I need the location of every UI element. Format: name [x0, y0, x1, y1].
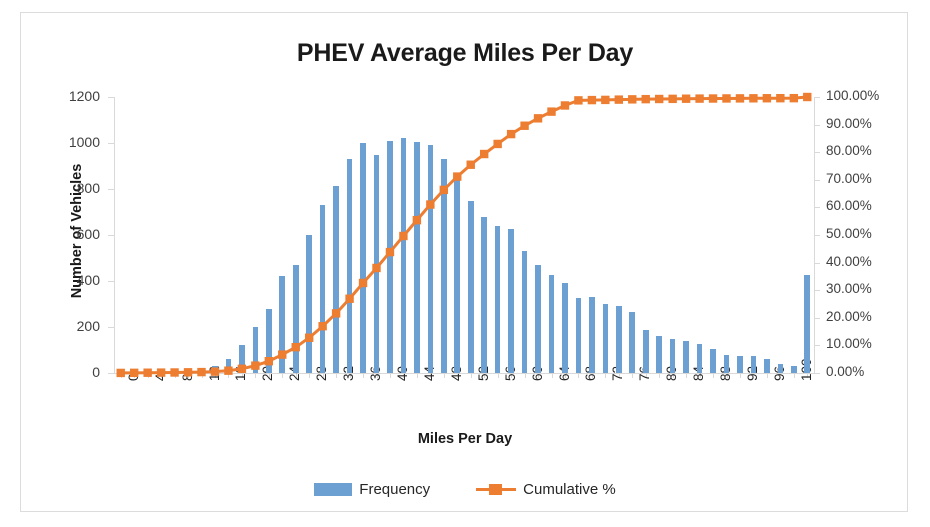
cumulative-marker: [695, 94, 703, 102]
secondary-y-axis-tick-label: 40.00%: [826, 254, 872, 269]
x-axis-tick: [498, 373, 499, 378]
cumulative-marker: [170, 368, 178, 376]
legend-label-cumulative: Cumulative %: [523, 481, 616, 498]
secondary-y-axis-tick: [814, 318, 820, 319]
x-axis-tick: [605, 373, 606, 378]
secondary-y-axis-tick: [814, 373, 820, 374]
secondary-y-axis-tick-label: 80.00%: [826, 143, 872, 158]
cumulative-marker: [413, 216, 421, 224]
cumulative-marker: [480, 150, 488, 158]
secondary-y-axis-tick-label: 50.00%: [826, 226, 872, 241]
cumulative-marker: [561, 101, 569, 109]
cumulative-marker: [790, 94, 798, 102]
cumulative-line: [121, 97, 808, 373]
y-axis-tick-label: 200: [44, 318, 100, 334]
secondary-y-axis-tick: [814, 345, 820, 346]
bar-swatch-icon: [314, 483, 352, 496]
cumulative-marker: [372, 264, 380, 272]
x-axis-tick: [255, 373, 256, 378]
x-axis-tick: [794, 373, 795, 378]
secondary-y-axis-tick-label: 60.00%: [826, 198, 872, 213]
cumulative-marker: [251, 361, 259, 369]
plot-area: 020040060080010001200 0.00%10.00%20.00%3…: [114, 97, 814, 373]
legend-label-frequency: Frequency: [359, 481, 430, 498]
cumulative-marker: [399, 232, 407, 240]
secondary-y-axis-tick-label: 100.00%: [826, 88, 879, 103]
x-axis-tick: [282, 373, 283, 378]
line-series-cumulative: [114, 97, 814, 373]
x-axis-tick: [363, 373, 364, 378]
secondary-y-axis-tick: [814, 125, 820, 126]
cumulative-marker: [467, 161, 475, 169]
cumulative-marker: [318, 322, 326, 330]
secondary-y-axis-tick-label: 30.00%: [826, 281, 872, 296]
cumulative-marker: [709, 94, 717, 102]
cumulative-marker: [157, 368, 165, 376]
secondary-y-axis-tick: [814, 180, 820, 181]
secondary-y-axis-tick: [814, 290, 820, 291]
secondary-y-axis-tick: [814, 207, 820, 208]
x-axis-tick: [444, 373, 445, 378]
cumulative-marker: [197, 368, 205, 376]
cumulative-marker: [386, 248, 394, 256]
y-axis-tick-label: 0: [44, 364, 100, 380]
cumulative-marker: [601, 96, 609, 104]
x-axis-tick: [309, 373, 310, 378]
cumulative-marker: [628, 95, 636, 103]
y-axis-tick-label: 800: [44, 180, 100, 196]
cumulative-marker: [117, 369, 125, 377]
y-axis-tick: [108, 373, 114, 374]
chart-legend: Frequency Cumulative %: [21, 481, 909, 498]
cumulative-marker: [722, 94, 730, 102]
x-axis-tick: [632, 373, 633, 378]
secondary-y-axis-tick: [814, 152, 820, 153]
cumulative-marker: [292, 343, 300, 351]
x-axis-tick: [471, 373, 472, 378]
x-axis-tick: [578, 373, 579, 378]
x-axis-tick: [686, 373, 687, 378]
secondary-y-axis-tick-label: 70.00%: [826, 171, 872, 186]
cumulative-marker: [359, 279, 367, 287]
cumulative-marker: [803, 93, 811, 101]
cumulative-marker: [574, 96, 582, 104]
cumulative-marker: [278, 350, 286, 358]
x-axis-tick: [525, 373, 526, 378]
cumulative-marker: [588, 96, 596, 104]
y-axis-tick-label: 600: [44, 226, 100, 242]
cumulative-marker: [130, 369, 138, 377]
secondary-y-axis-tick-label: 90.00%: [826, 116, 872, 131]
line-marker-swatch-icon: [476, 483, 516, 496]
cumulative-marker: [507, 130, 515, 138]
cumulative-marker: [655, 95, 663, 103]
cumulative-marker: [493, 140, 501, 148]
secondary-y-axis-tick: [814, 235, 820, 236]
cumulative-marker: [211, 367, 219, 375]
x-axis-tick: [390, 373, 391, 378]
x-axis-tick: [659, 373, 660, 378]
cumulative-marker: [332, 309, 340, 317]
y-axis-tick-label: 1000: [44, 134, 100, 150]
x-axis-tick: [417, 373, 418, 378]
secondary-y-axis-tick-label: 10.00%: [826, 336, 872, 351]
cumulative-marker: [184, 368, 192, 376]
x-axis-tick: [552, 373, 553, 378]
cumulative-marker: [776, 94, 784, 102]
cumulative-marker: [305, 334, 313, 342]
cumulative-marker: [453, 172, 461, 180]
cumulative-marker: [763, 94, 771, 102]
cumulative-marker: [224, 366, 232, 374]
x-axis-tick: [767, 373, 768, 378]
cumulative-marker: [642, 95, 650, 103]
cumulative-marker: [682, 95, 690, 103]
cumulative-marker: [749, 94, 757, 102]
cumulative-marker: [615, 95, 623, 103]
cumulative-marker: [238, 365, 246, 373]
cumulative-marker: [668, 95, 676, 103]
cumulative-marker: [440, 186, 448, 194]
cumulative-marker: [736, 94, 744, 102]
chart-container: PHEV Average Miles Per Day Number of Veh…: [20, 12, 908, 512]
secondary-y-axis-tick: [814, 263, 820, 264]
x-axis-tick: [336, 373, 337, 378]
cumulative-marker: [520, 122, 528, 130]
secondary-y-axis-tick: [814, 97, 820, 98]
x-axis-title: Miles Per Day: [21, 431, 909, 447]
cumulative-marker: [345, 295, 353, 303]
legend-item-frequency[interactable]: Frequency: [314, 481, 430, 498]
cumulative-marker: [534, 114, 542, 122]
y-axis-tick-label: 1200: [44, 88, 100, 104]
chart-title: PHEV Average Miles Per Day: [21, 39, 909, 68]
x-axis-tick: [740, 373, 741, 378]
legend-item-cumulative[interactable]: Cumulative %: [476, 481, 616, 498]
y-axis-tick-label: 400: [44, 272, 100, 288]
secondary-y-axis-tick-label: 20.00%: [826, 309, 872, 324]
x-axis-tick: [713, 373, 714, 378]
secondary-y-axis-tick-label: 0.00%: [826, 364, 864, 379]
cumulative-marker: [426, 200, 434, 208]
cumulative-marker: [547, 107, 555, 115]
cumulative-marker: [143, 369, 151, 377]
cumulative-marker: [265, 357, 273, 365]
